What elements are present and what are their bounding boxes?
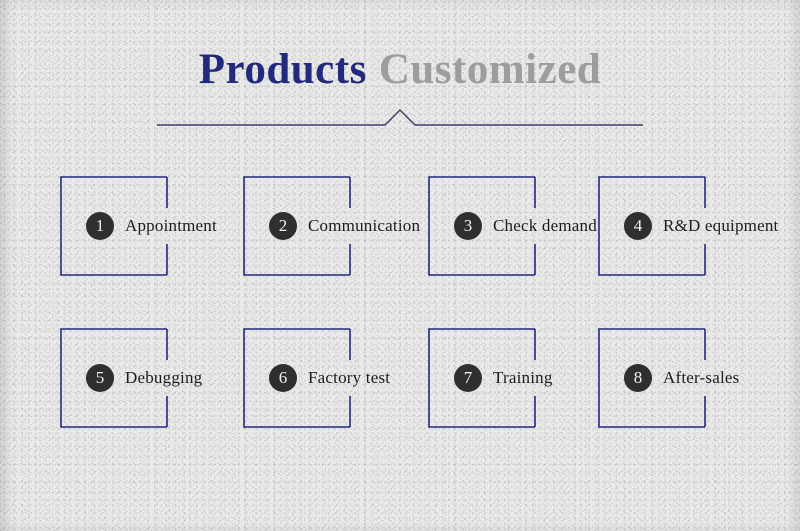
step-content: 1 Appointment xyxy=(86,212,217,240)
step-number-badge: 4 xyxy=(624,212,652,240)
step-card-8[interactable]: 8 After-sales xyxy=(598,328,706,428)
title-word-primary: Products xyxy=(199,46,367,93)
page-title: ProductsCustomized xyxy=(0,44,800,96)
step-card-3[interactable]: 3 Check demand xyxy=(428,176,536,276)
step-number-badge: 7 xyxy=(454,364,482,392)
step-label: Debugging xyxy=(125,368,202,388)
step-content: 5 Debugging xyxy=(86,364,202,392)
step-card-5[interactable]: 5 Debugging xyxy=(60,328,168,428)
steps-row-2: 5 Debugging 6 Factory test xyxy=(0,328,800,432)
title-word-secondary: Customized xyxy=(379,46,601,93)
step-label: Training xyxy=(493,368,553,388)
step-card-2[interactable]: 2 Communication xyxy=(243,176,351,276)
step-label: Communication xyxy=(308,216,420,236)
steps-row-1: 1 Appointment 2 Communication xyxy=(0,176,800,280)
step-card-7[interactable]: 7 Training xyxy=(428,328,536,428)
step-number-badge: 1 xyxy=(86,212,114,240)
step-number-badge: 8 xyxy=(624,364,652,392)
step-number-badge: 5 xyxy=(86,364,114,392)
step-number-badge: 6 xyxy=(269,364,297,392)
step-content: 4 R&D equipment xyxy=(624,212,778,240)
poster-canvas: ProductsCustomized 1 Appointment xyxy=(0,0,800,531)
step-label: Check demand xyxy=(493,216,597,236)
step-label: R&D equipment xyxy=(663,216,778,236)
step-number-badge: 3 xyxy=(454,212,482,240)
step-label: Appointment xyxy=(125,216,217,236)
step-content: 3 Check demand xyxy=(454,212,597,240)
step-card-6[interactable]: 6 Factory test xyxy=(243,328,351,428)
divider-peak-path xyxy=(157,110,643,125)
step-content: 2 Communication xyxy=(269,212,420,240)
step-content: 7 Training xyxy=(454,364,553,392)
step-card-1[interactable]: 1 Appointment xyxy=(60,176,168,276)
step-card-4[interactable]: 4 R&D equipment xyxy=(598,176,706,276)
step-content: 8 After-sales xyxy=(624,364,739,392)
step-number-badge: 2 xyxy=(269,212,297,240)
title-divider xyxy=(157,104,643,130)
step-label: After-sales xyxy=(663,368,739,388)
step-content: 6 Factory test xyxy=(269,364,390,392)
step-label: Factory test xyxy=(308,368,390,388)
